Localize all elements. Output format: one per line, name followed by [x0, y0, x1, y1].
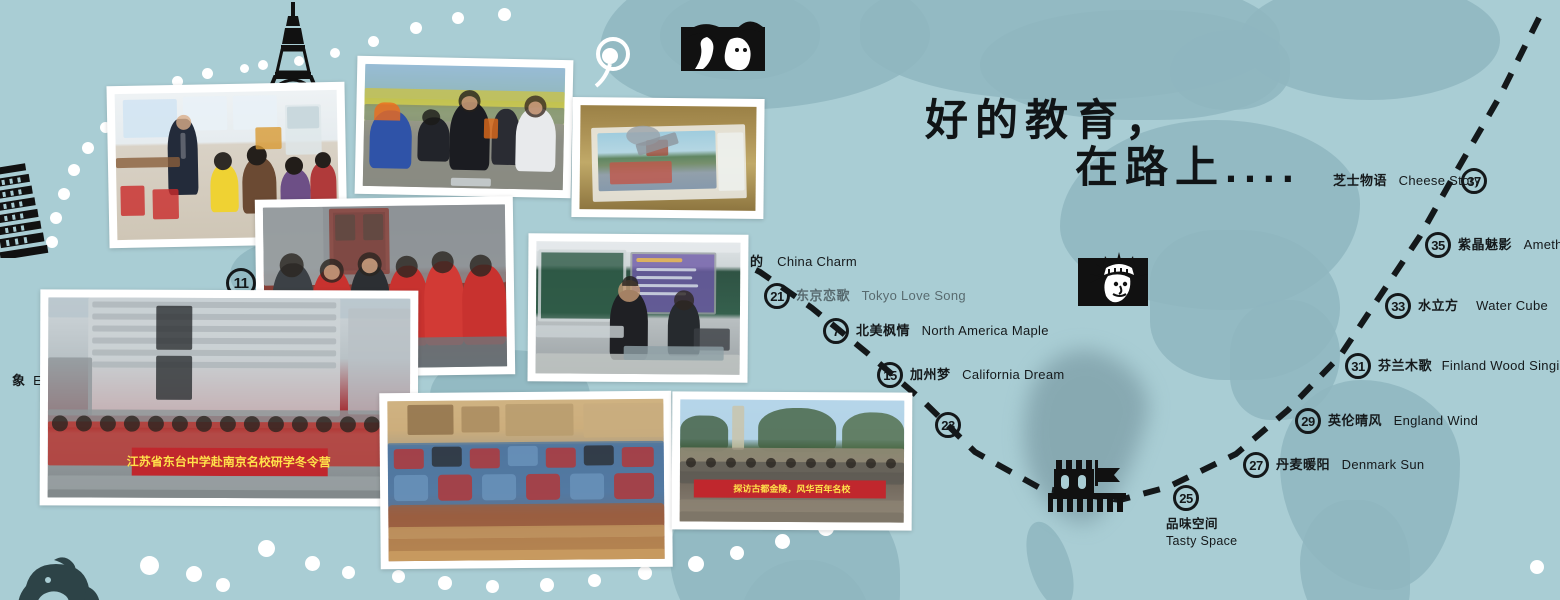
route-marker-7[interactable]: 7: [823, 318, 849, 344]
route-label-7: 北美枫情 North America Maple: [856, 322, 1049, 340]
statue-of-liberty-icon: [1078, 250, 1160, 310]
photo-lecture-hall-talk[interactable]: [527, 233, 748, 383]
photo-monument-banner-text: 探访古都金陵，风华百年名校: [680, 481, 904, 495]
route-label-25: 品味空间 Tasty Space: [1166, 516, 1237, 550]
route-label-29-en: England Wind: [1394, 413, 1479, 428]
route-marker-33[interactable]: 33: [1385, 293, 1411, 319]
photo-outdoor-activity[interactable]: [355, 56, 574, 198]
route-marker-23[interactable]: 23: [935, 412, 961, 438]
castle-fort-icon: [1048, 452, 1126, 512]
photo-monument-group[interactable]: 探访古都金陵，风华百年名校: [672, 391, 913, 530]
route-marker-21[interactable]: 21: [764, 283, 790, 309]
route-label-35: 紫晶魅影 Amethyst Charm: [1458, 236, 1560, 254]
photo-campus-steps-banner-text: 江苏省东台中学赴南京名校研学冬令营: [48, 452, 410, 470]
route-marker-35[interactable]: 35: [1425, 232, 1451, 258]
photo-outdoor-activity-image: [363, 64, 566, 190]
route-marker-31[interactable]: 31: [1345, 353, 1371, 379]
route-label-35-cn: 紫晶魅影: [1458, 237, 1512, 252]
balloon-pin-icon: [590, 36, 636, 88]
headline-line-1: 好的教育，: [925, 98, 1301, 145]
route-label-35-en: Amethyst Charm: [1524, 237, 1560, 252]
route-label-33: 水立方 Water Cube: [1418, 297, 1548, 315]
photo-lecture-hall-talk-image: [536, 241, 741, 374]
route-label-27-cn: 丹麦暖阳: [1276, 457, 1330, 472]
photo-auditorium-audience-image: [387, 399, 664, 561]
route-label-37-cn: 芝士物语: [1333, 173, 1387, 188]
route-label-21: 东京恋歌 Tokyo Love Song: [796, 287, 966, 305]
route-label-15-cn: 加州梦: [910, 367, 951, 382]
route-label-china-charm-cn: 的: [750, 254, 764, 269]
route-label-15: 加州梦 California Dream: [910, 366, 1064, 384]
route-marker-25[interactable]: 25: [1173, 485, 1199, 511]
route-label-7-en: North America Maple: [922, 323, 1049, 338]
route-label-er-cn: 象: [12, 373, 26, 388]
route-label-25-en: Tasty Space: [1166, 533, 1237, 550]
photo-campus-steps-group[interactable]: 江苏省东台中学赴南京名校研学冬令营: [40, 289, 419, 506]
page-title: 好的教育， 在路上....: [925, 98, 1301, 193]
route-label-21-en: Tokyo Love Song: [862, 288, 966, 303]
elephant-icon: [14, 556, 124, 600]
route-label-27-en: Denmark Sun: [1342, 457, 1425, 472]
route-label-29-cn: 英伦晴风: [1328, 413, 1382, 428]
route-label-15-en: California Dream: [962, 367, 1064, 382]
route-marker-15[interactable]: 15: [877, 362, 903, 388]
route-label-33-en: Water Cube: [1476, 298, 1548, 313]
poster-canvas: 好的教育， 在路上....: [0, 0, 1560, 600]
photo-monument-group-image: 探访古都金陵，风华百年名校: [680, 399, 905, 522]
headline-line-2: 在路上....: [1075, 145, 1301, 192]
route-marker-27[interactable]: 27: [1243, 452, 1269, 478]
photo-postcard-keychain[interactable]: [571, 97, 764, 219]
route-label-37: 芝士物语 Cheese Story: [1333, 172, 1481, 190]
route-label-21-cn: 东京恋歌: [796, 288, 850, 303]
route-label-31-cn: 芬兰木歌: [1378, 358, 1432, 373]
photo-auditorium-audience[interactable]: [379, 391, 673, 570]
leaning-tower-pisa-icon: [0, 158, 60, 258]
route-label-29: 英伦晴风 England Wind: [1328, 412, 1478, 430]
mount-rushmore-icon: [681, 19, 765, 71]
route-label-33-cn: 水立方: [1418, 298, 1459, 313]
route-label-7-cn: 北美枫情: [856, 323, 910, 338]
route-label-37-en: Cheese Story: [1399, 173, 1481, 188]
photo-postcard-keychain-image: [579, 105, 756, 211]
route-marker-29[interactable]: 29: [1295, 408, 1321, 434]
route-label-25-cn: 品味空间: [1166, 516, 1237, 533]
route-label-china-charm-en: China Charm: [777, 254, 857, 269]
route-label-31: 芬兰木歌 Finland Wood Singing: [1378, 357, 1560, 375]
route-label-27: 丹麦暖阳 Denmark Sun: [1276, 456, 1424, 474]
route-label-china-charm: 的 China Charm: [750, 253, 857, 271]
route-label-31-en: Finland Wood Singing: [1442, 358, 1560, 373]
photo-campus-steps-group-image: 江苏省东台中学赴南京名校研学冬令营: [48, 297, 411, 498]
